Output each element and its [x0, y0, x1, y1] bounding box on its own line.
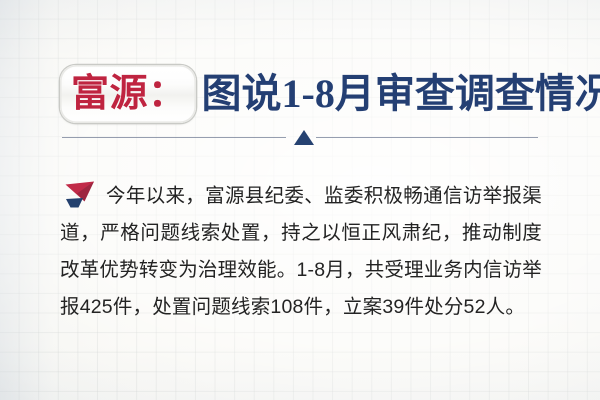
source-badge-label: 富源： [71, 75, 187, 113]
page-title: 图说1-8月审查调查情况 [202, 74, 600, 114]
triangle-up-icon [294, 130, 314, 145]
article-paragraph: 今年以来，富源县纪委、监委积极畅通信访举报渠道，严格问题线索处置，持之以恒正风肃… [60, 178, 542, 326]
header: 富源： 图说1-8月审查调查情况 [0, 58, 600, 138]
body-block: 今年以来，富源县纪委、监委积极畅通信访举报渠道，严格问题线索处置，持之以恒正风肃… [60, 178, 542, 326]
header-divider [62, 130, 538, 148]
divider-rule-right [316, 137, 538, 138]
divider-rule-left [62, 137, 286, 138]
title-row: 富源： 图说1-8月审查调查情况 [60, 58, 600, 130]
article-paragraph-text: 今年以来，富源县纪委、监委积极畅通信访举报渠道，严格问题线索处置，持之以恒正风肃… [60, 178, 542, 326]
poster-canvas: 富源： 图说1-8月审查调查情况 今年以来，富源县纪委、监委积极畅通信访举报渠道… [0, 0, 600, 400]
source-badge: 富源： [60, 65, 196, 123]
